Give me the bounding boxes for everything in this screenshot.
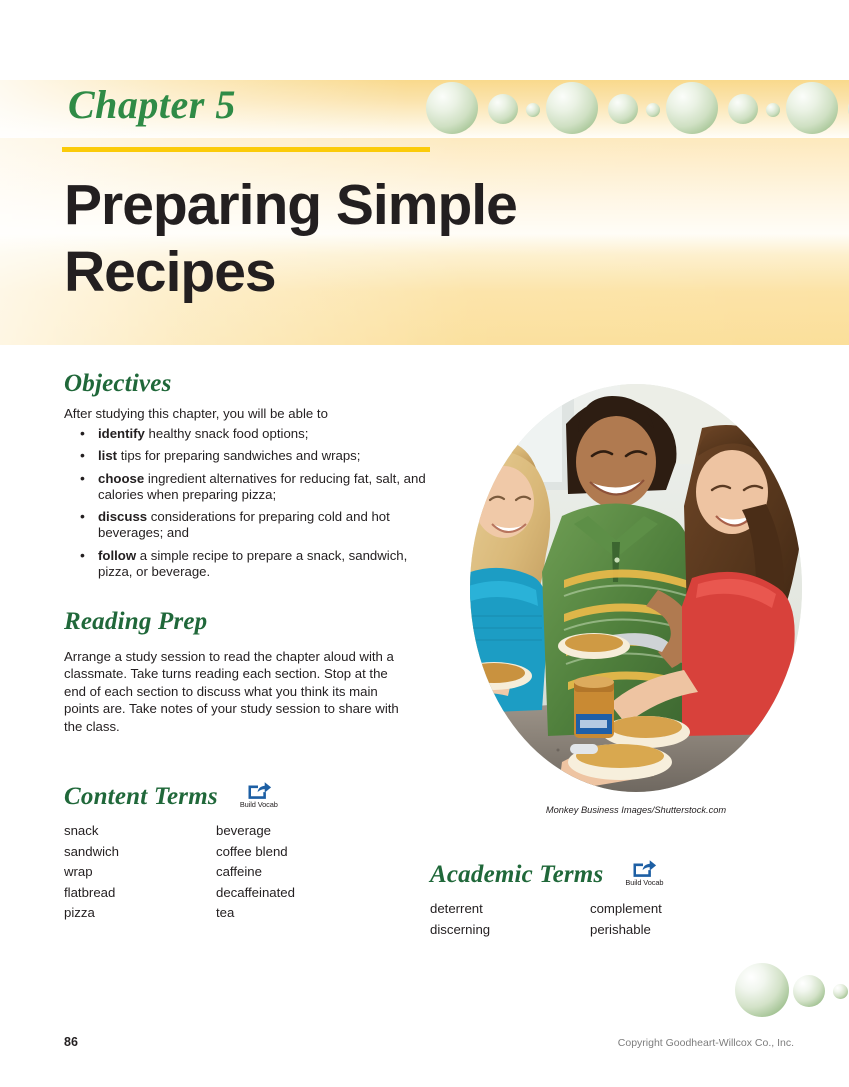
textbook-chapter-opener-page: Chapter 5 Preparing Simple Recipes Objec… [0, 0, 849, 1087]
academic-terms-header: Academic Terms Build Vocab [430, 858, 750, 889]
build-vocab-button[interactable]: Build Vocab [617, 858, 671, 889]
term-item: flatbread [64, 883, 216, 904]
share-export-icon[interactable] [631, 858, 657, 877]
content-terms-heading: Content Terms [64, 783, 218, 811]
bubble-small [526, 103, 540, 117]
objective-text: healthy snack food options; [145, 426, 309, 441]
objective-verb: discuss [98, 509, 147, 524]
objectives-heading: Objectives [64, 370, 429, 398]
objective-text: ingredient alternatives for reducing fat… [98, 471, 426, 502]
title-rule [62, 147, 430, 152]
build-vocab-label: Build Vocab [240, 800, 278, 809]
academic-terms-column-1: deterrent discerning [430, 899, 590, 940]
content-terms-column-2: beverage coffee blend caffeine decaffein… [216, 821, 368, 924]
chapter-label: Chapter 5 [68, 80, 236, 130]
objective-verb: follow [98, 548, 136, 563]
reading-prep-body: Arrange a study session to read the chap… [64, 648, 404, 735]
objective-text: a simple recipe to prepare a snack, sand… [98, 548, 407, 579]
objective-verb: list [98, 448, 117, 463]
objective-text: tips for preparing sandwiches and wraps; [117, 448, 360, 463]
page-title-line-2: Recipes [64, 240, 276, 304]
reading-prep-heading: Reading Prep [64, 608, 404, 636]
decorative-bubble-row [420, 78, 849, 140]
academic-terms-heading: Academic Terms [430, 861, 603, 889]
list-item: discuss considerations for preparing col… [88, 509, 429, 542]
page-number: 86 [64, 1035, 78, 1049]
photo-credit: Monkey Business Images/Shutterstock.com [470, 805, 802, 815]
bubble-small [833, 984, 848, 999]
term-item: coffee blend [216, 842, 368, 863]
academic-terms-column-2: complement perishable [590, 899, 750, 940]
list-item: identify healthy snack food options; [88, 426, 429, 442]
bubble-large [735, 963, 789, 1017]
bubble-large [666, 82, 718, 134]
bubble-large [426, 82, 478, 134]
term-item: beverage [216, 821, 368, 842]
academic-terms-columns: deterrent discerning complement perishab… [430, 899, 750, 940]
page-title: Preparing Simple Recipes [64, 172, 624, 306]
objectives-lead: After studying this chapter, you will be… [64, 405, 429, 422]
bubble-large [546, 82, 598, 134]
teens-making-sandwiches-photo [470, 384, 802, 792]
share-export-icon[interactable] [246, 780, 272, 799]
bubble-small [766, 103, 780, 117]
bubble-medium [608, 94, 638, 124]
chapter-photo [470, 384, 802, 792]
page-title-line-1: Preparing Simple [64, 173, 517, 237]
term-item: wrap [64, 862, 216, 883]
objectives-list: identify healthy snack food options; lis… [64, 426, 429, 580]
academic-terms-section: Academic Terms Build Vocab deterrent dis… [430, 858, 750, 940]
copyright-notice: Copyright Goodheart-Willcox Co., Inc. [618, 1037, 794, 1049]
decorative-bubbles-bottom [735, 963, 849, 1018]
content-terms-header: Content Terms Build Vocab [64, 780, 368, 811]
content-terms-column-1: snack sandwich wrap flatbread pizza [64, 821, 216, 924]
term-item: caffeine [216, 862, 368, 883]
bubble-large [786, 82, 838, 134]
term-item: decaffeinated [216, 883, 368, 904]
objectives-section: Objectives After studying this chapter, … [64, 370, 429, 586]
build-vocab-button[interactable]: Build Vocab [232, 780, 286, 811]
objective-verb: choose [98, 471, 144, 486]
build-vocab-label: Build Vocab [625, 878, 663, 887]
list-item: follow a simple recipe to prepare a snac… [88, 548, 429, 581]
term-item: snack [64, 821, 216, 842]
reading-prep-section: Reading Prep Arrange a study session to … [64, 608, 404, 735]
term-item: discerning [430, 920, 590, 941]
term-item: pizza [64, 903, 216, 924]
term-item: sandwich [64, 842, 216, 863]
term-item: perishable [590, 920, 750, 941]
content-terms-section: Content Terms Build Vocab snack sandwich… [64, 780, 368, 924]
list-item: list tips for preparing sandwiches and w… [88, 448, 429, 464]
bubble-medium [728, 94, 758, 124]
term-item: tea [216, 903, 368, 924]
content-terms-columns: snack sandwich wrap flatbread pizza beve… [64, 821, 368, 924]
objective-verb: identify [98, 426, 145, 441]
term-item: complement [590, 899, 750, 920]
bubble-small [646, 103, 660, 117]
bubble-medium [488, 94, 518, 124]
bubble-medium [793, 975, 825, 1007]
term-item: deterrent [430, 899, 590, 920]
list-item: choose ingredient alternatives for reduc… [88, 471, 429, 504]
